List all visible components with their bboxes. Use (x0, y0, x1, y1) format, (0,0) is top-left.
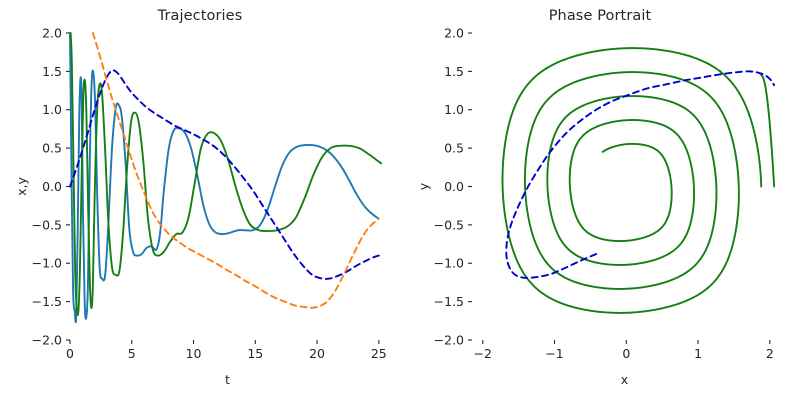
x-tick-label: 20 (309, 346, 325, 361)
x-tick-label: 1 (694, 346, 702, 361)
panel-phase-portrait: Phase Portrait −2.0−1.5−1.0−0.50.00.51.0… (400, 0, 800, 400)
y-tick-label: 0.5 (444, 141, 464, 156)
x-tick-label: 10 (186, 346, 202, 361)
y-tick-label: 1.5 (42, 64, 62, 79)
x-tick-label: 2 (766, 346, 774, 361)
x-tick-label: 0 (66, 346, 74, 361)
series-path-3 (93, 33, 379, 308)
y-tick-label: 2.0 (42, 25, 62, 40)
x-tick-label: −2 (474, 346, 492, 361)
figure-canvas: Trajectories −2.0−1.5−1.0−0.50.00.51.01.… (0, 0, 800, 400)
x-tick-label: −1 (545, 346, 563, 361)
series-path-0 (503, 48, 762, 313)
trajectories-plot: −2.0−1.5−1.0−0.50.00.51.01.52.0051015202… (0, 0, 400, 400)
y-tick-label: 0.0 (42, 179, 62, 194)
y-tick-label: −2.0 (434, 332, 464, 347)
series-path-0-tail (761, 75, 774, 186)
x-axis-title: t (225, 372, 230, 387)
y-tick-label: 1.0 (444, 102, 464, 117)
panel-trajectories: Trajectories −2.0−1.5−1.0−0.50.00.51.01.… (0, 0, 400, 400)
y-tick-label: −1.5 (434, 294, 464, 309)
y-tick-label: 1.0 (42, 102, 62, 117)
y-tick-label: 1.5 (444, 64, 464, 79)
y-axis-title: y (416, 182, 431, 190)
series-path-0 (70, 33, 379, 322)
x-tick-label: 25 (371, 346, 387, 361)
series-path-2 (70, 70, 379, 279)
phase-portrait-plot: −2.0−1.5−1.0−0.50.00.51.01.52.0−2−1012xy (400, 0, 800, 400)
y-tick-label: −1.0 (32, 256, 62, 271)
y-axis-title: x,y (14, 177, 29, 196)
series-path-1 (71, 33, 382, 315)
y-tick-label: −0.5 (434, 217, 464, 232)
y-tick-label: −0.5 (32, 217, 62, 232)
y-tick-label: −1.0 (434, 256, 464, 271)
y-tick-label: 0.0 (444, 179, 464, 194)
x-tick-label: 5 (128, 346, 136, 361)
x-tick-label: 0 (622, 346, 630, 361)
y-tick-label: 0.5 (42, 141, 62, 156)
x-tick-label: 15 (247, 346, 263, 361)
y-tick-label: 2.0 (444, 25, 464, 40)
y-tick-label: −1.5 (32, 294, 62, 309)
y-tick-label: −2.0 (32, 332, 62, 347)
x-axis-title: x (621, 372, 628, 387)
